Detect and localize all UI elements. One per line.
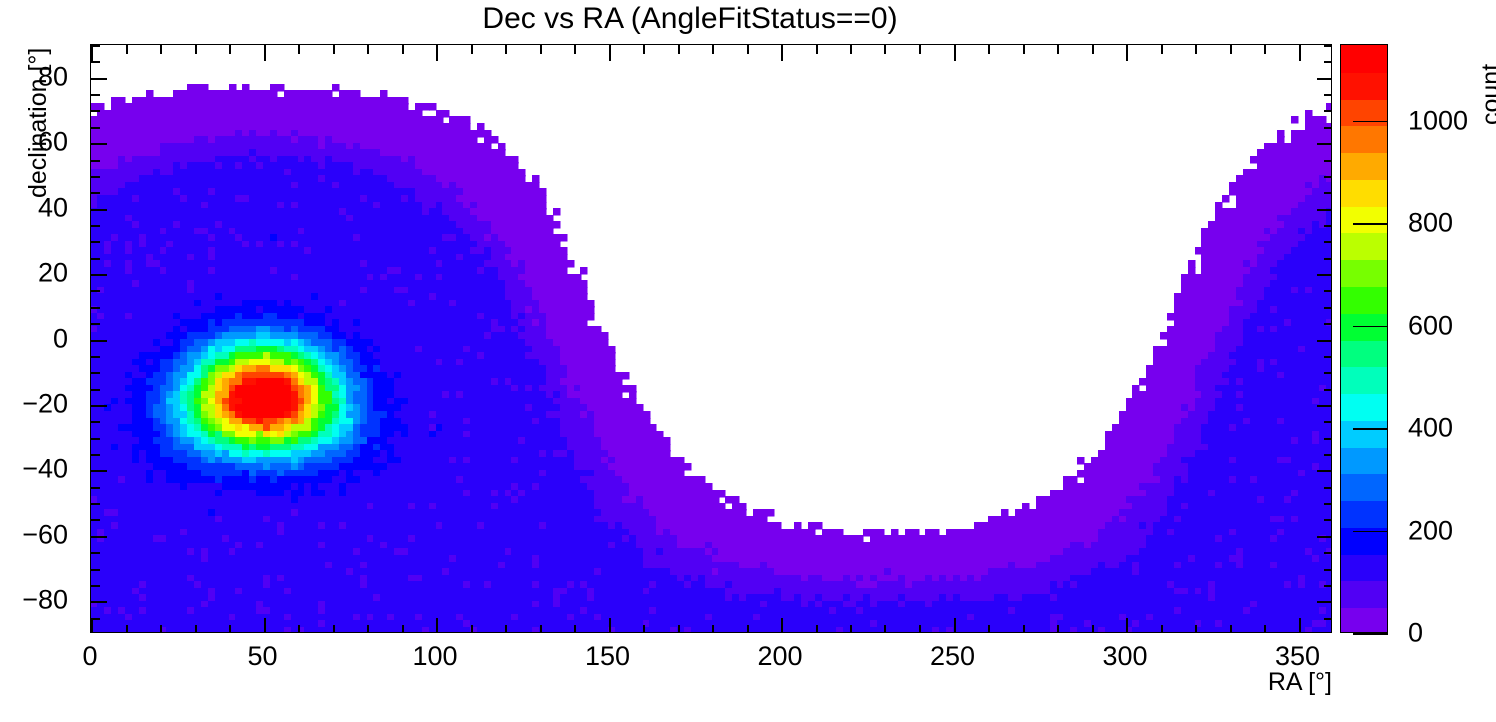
x-major-tick-top: [264, 45, 266, 61]
y-minor-tick-right: [1324, 421, 1332, 423]
y-axis-title: declination [°]: [24, 48, 53, 198]
y-minor-tick-right: [1324, 176, 1332, 178]
y-minor-tick-right: [1324, 503, 1332, 505]
x-minor-tick: [333, 625, 335, 633]
y-minor-tick: [91, 307, 100, 309]
x-major-tick: [436, 618, 438, 633]
y-minor-tick: [91, 503, 100, 505]
x-minor-tick: [988, 625, 990, 633]
y-minor-tick-right: [1324, 258, 1332, 260]
y-major-tick: [91, 143, 107, 145]
x-minor-tick-top: [816, 45, 818, 54]
y-major-tick: [91, 405, 107, 407]
y-minor-tick-right: [1324, 356, 1332, 358]
color-scale-band: [1341, 125, 1387, 153]
y-minor-tick: [91, 241, 100, 243]
x-minor-tick-top: [471, 45, 473, 54]
x-tick-label: 300: [1102, 641, 1147, 672]
x-tick-label: 200: [757, 641, 802, 672]
x-minor-tick: [195, 625, 197, 633]
y-minor-tick: [91, 356, 100, 358]
x-major-tick: [91, 618, 93, 633]
histogram-image: [91, 45, 1332, 633]
y-minor-tick: [91, 372, 100, 374]
x-minor-tick-top: [160, 45, 162, 54]
y-minor-tick-right: [1324, 372, 1332, 374]
y-minor-tick: [91, 61, 100, 63]
y-minor-tick-right: [1324, 552, 1332, 554]
x-major-tick: [264, 618, 266, 633]
y-minor-tick: [91, 454, 100, 456]
x-minor-tick-top: [1023, 45, 1025, 54]
x-minor-tick-top: [1092, 45, 1094, 54]
y-minor-tick: [91, 323, 100, 325]
x-major-tick-top: [781, 45, 783, 61]
x-tick-label: 0: [82, 641, 97, 672]
x-axis-title: RA [°]: [1268, 668, 1332, 697]
x-minor-tick: [850, 625, 852, 633]
color-scale-band: [1341, 554, 1387, 581]
x-minor-tick-top: [1195, 45, 1197, 54]
y-major-tick: [91, 209, 107, 211]
x-minor-tick-top: [229, 45, 231, 54]
x-tick-label: 150: [585, 641, 630, 672]
y-minor-tick-right: [1324, 438, 1332, 440]
y-major-tick-right: [1317, 274, 1332, 276]
x-minor-tick: [126, 625, 128, 633]
x-major-tick: [1126, 618, 1128, 633]
y-minor-tick: [91, 225, 100, 227]
x-tick-label: 250: [930, 641, 975, 672]
y-minor-tick: [91, 45, 100, 47]
x-major-tick: [781, 618, 783, 633]
x-minor-tick-top: [1161, 45, 1163, 54]
x-minor-tick: [298, 625, 300, 633]
y-major-tick: [91, 470, 107, 472]
y-tick-label: −40: [0, 454, 68, 485]
y-major-tick: [91, 340, 107, 342]
x-minor-tick: [643, 625, 645, 633]
x-major-tick: [609, 618, 611, 633]
x-minor-tick: [1023, 625, 1025, 633]
color-scale-tick: [1353, 223, 1388, 225]
y-minor-tick-right: [1324, 323, 1332, 325]
color-scale-tick-label: 1000: [1408, 105, 1468, 136]
y-minor-tick-right: [1324, 225, 1332, 227]
x-minor-tick: [505, 625, 507, 633]
y-minor-tick: [91, 421, 100, 423]
color-scale-axis: 02004006008001000: [1388, 44, 1496, 633]
color-scale-tick-label: 800: [1408, 208, 1453, 239]
y-minor-tick: [91, 585, 100, 587]
x-minor-tick-top: [505, 45, 507, 54]
color-scale-band: [1341, 286, 1387, 314]
x-minor-tick-top: [367, 45, 369, 54]
x-major-tick-top: [436, 45, 438, 61]
x-minor-tick: [540, 625, 542, 633]
color-scale-band: [1341, 206, 1387, 233]
x-minor-tick: [816, 625, 818, 633]
page-title: Dec vs RA (AngleFitStatus==0): [0, 2, 1380, 36]
y-minor-tick: [91, 290, 100, 292]
y-minor-tick-right: [1324, 569, 1332, 571]
x-major-tick-top: [609, 45, 611, 61]
x-minor-tick: [1195, 625, 1197, 633]
color-scale-band: [1341, 393, 1387, 421]
y-minor-tick: [91, 127, 100, 129]
color-scale-band: [1341, 447, 1387, 474]
y-minor-tick-right: [1324, 45, 1332, 47]
y-major-tick: [91, 78, 107, 80]
y-minor-tick-right: [1324, 585, 1332, 587]
color-scale-band: [1341, 580, 1387, 608]
y-major-tick-right: [1317, 78, 1332, 80]
y-minor-tick-right: [1324, 192, 1332, 194]
y-minor-tick-right: [1324, 519, 1332, 521]
color-scale-band: [1341, 500, 1387, 528]
y-tick-label: 20: [0, 258, 68, 289]
color-scale-tick-label: 400: [1408, 413, 1453, 444]
x-minor-tick-top: [884, 45, 886, 54]
y-major-tick-right: [1317, 601, 1332, 603]
color-scale-band: [1341, 366, 1387, 394]
y-minor-tick-right: [1324, 618, 1332, 620]
x-minor-tick-top: [333, 45, 335, 54]
y-minor-tick: [91, 438, 100, 440]
x-minor-tick: [229, 625, 231, 633]
color-scale-band: [1341, 340, 1387, 367]
x-minor-tick-top: [298, 45, 300, 54]
x-minor-tick-top: [540, 45, 542, 54]
color-scale-band: [1341, 72, 1387, 100]
y-minor-tick-right: [1324, 454, 1332, 456]
y-minor-tick: [91, 487, 100, 489]
y-minor-tick-right: [1324, 160, 1332, 162]
x-major-tick: [954, 618, 956, 633]
color-scale-tick-label: 200: [1408, 515, 1453, 546]
x-minor-tick: [471, 625, 473, 633]
x-minor-tick-top: [850, 45, 852, 54]
x-minor-tick: [1161, 625, 1163, 633]
y-minor-tick: [91, 160, 100, 162]
plot-canvas-root: Dec vs RA (AngleFitStatus==0) 0501001502…: [0, 0, 1496, 722]
y-minor-tick: [91, 552, 100, 554]
y-minor-tick-right: [1324, 290, 1332, 292]
color-scale-tick: [1353, 428, 1388, 430]
y-major-tick-right: [1317, 470, 1332, 472]
x-minor-tick: [402, 625, 404, 633]
y-major-tick: [91, 536, 107, 538]
y-minor-tick: [91, 389, 100, 391]
x-minor-tick-top: [126, 45, 128, 54]
y-minor-tick-right: [1324, 127, 1332, 129]
color-scale-tick-label: 0: [1408, 618, 1423, 649]
y-major-tick-right: [1317, 340, 1332, 342]
y-major-tick-right: [1317, 143, 1332, 145]
x-minor-tick-top: [1264, 45, 1266, 54]
x-minor-tick: [1230, 625, 1232, 633]
color-scale-title: count: [1477, 64, 1496, 125]
y-minor-tick-right: [1324, 241, 1332, 243]
y-minor-tick-right: [1324, 487, 1332, 489]
y-minor-tick: [91, 176, 100, 178]
x-minor-tick: [678, 625, 680, 633]
x-minor-tick: [367, 625, 369, 633]
x-minor-tick-top: [402, 45, 404, 54]
x-major-tick-top: [1126, 45, 1128, 61]
color-scale-band: [1341, 232, 1387, 260]
y-minor-tick: [91, 110, 100, 112]
y-tick-label: −80: [0, 585, 68, 616]
y-tick-label: −20: [0, 388, 68, 419]
x-minor-tick-top: [195, 45, 197, 54]
x-minor-tick: [160, 625, 162, 633]
x-major-tick-top: [954, 45, 956, 61]
x-major-tick: [1299, 618, 1301, 633]
color-scale-band: [1341, 259, 1387, 287]
y-minor-tick: [91, 519, 100, 521]
y-minor-tick-right: [1324, 389, 1332, 391]
x-minor-tick: [1092, 625, 1094, 633]
y-tick-label: −60: [0, 519, 68, 550]
y-major-tick-right: [1317, 405, 1332, 407]
y-major-tick-right: [1317, 209, 1332, 211]
color-scale-tick: [1353, 633, 1388, 635]
x-minor-tick: [747, 625, 749, 633]
color-scale-tick: [1353, 121, 1388, 123]
color-scale-band: [1341, 473, 1387, 501]
color-scale-tick: [1353, 531, 1388, 533]
x-minor-tick-top: [1057, 45, 1059, 54]
y-minor-tick-right: [1324, 110, 1332, 112]
x-minor-tick-top: [747, 45, 749, 54]
y-minor-tick-right: [1324, 61, 1332, 63]
color-scale-band: [1341, 420, 1387, 448]
x-minor-tick: [574, 625, 576, 633]
x-minor-tick: [712, 625, 714, 633]
x-minor-tick-top: [712, 45, 714, 54]
y-minor-tick: [91, 618, 100, 620]
color-scale-bar: [1340, 44, 1388, 633]
x-minor-tick-top: [643, 45, 645, 54]
color-scale-band: [1341, 607, 1387, 633]
x-tick-label: 50: [247, 641, 277, 672]
x-major-tick-top: [91, 45, 93, 61]
x-minor-tick: [919, 625, 921, 633]
y-minor-tick: [91, 94, 100, 96]
plot-frame: [90, 44, 1332, 633]
color-scale-band: [1341, 152, 1387, 180]
y-minor-tick: [91, 569, 100, 571]
y-minor-tick: [91, 192, 100, 194]
y-minor-tick: [91, 258, 100, 260]
x-minor-tick-top: [574, 45, 576, 54]
y-major-tick: [91, 274, 107, 276]
x-minor-tick: [884, 625, 886, 633]
y-major-tick-right: [1317, 536, 1332, 538]
x-minor-tick: [1264, 625, 1266, 633]
y-tick-label: 0: [0, 323, 68, 354]
x-major-tick-top: [1299, 45, 1301, 61]
color-scale-tick: [1353, 326, 1388, 328]
y-major-tick: [91, 601, 107, 603]
x-minor-tick: [1057, 625, 1059, 633]
x-minor-tick-top: [919, 45, 921, 54]
color-scale-tick-label: 600: [1408, 310, 1453, 341]
x-minor-tick-top: [988, 45, 990, 54]
x-minor-tick-top: [678, 45, 680, 54]
y-minor-tick-right: [1324, 94, 1332, 96]
color-scale-band: [1341, 179, 1387, 207]
y-minor-tick-right: [1324, 307, 1332, 309]
x-tick-label: 100: [412, 641, 457, 672]
x-minor-tick-top: [1230, 45, 1232, 54]
color-scale-band: [1341, 45, 1387, 73]
